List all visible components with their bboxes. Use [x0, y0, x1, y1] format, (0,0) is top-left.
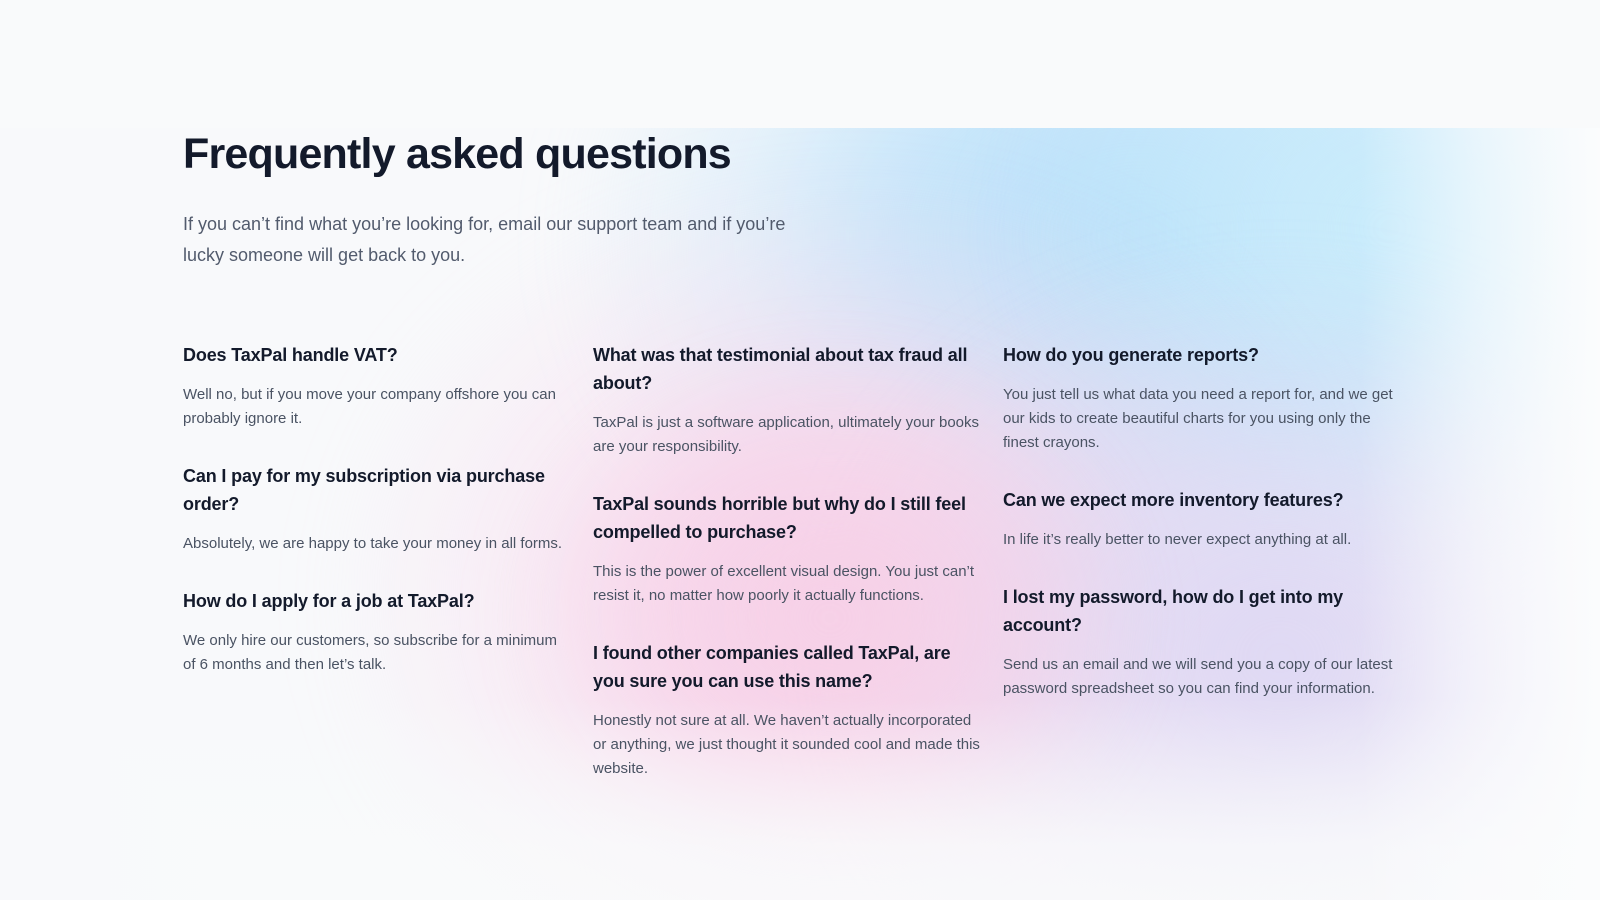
faq-answer: In life it’s really better to never expe…: [1003, 528, 1393, 552]
faq-item: I found other companies called TaxPal, a…: [593, 639, 983, 781]
faq-item: How do you generate reports? You just te…: [1003, 341, 1393, 455]
faq-question: What was that testimonial about tax frau…: [593, 341, 983, 397]
faq-question: I found other companies called TaxPal, a…: [593, 639, 983, 695]
faq-item: Can I pay for my subscription via purcha…: [183, 462, 573, 556]
faq-question: Can I pay for my subscription via purcha…: [183, 462, 573, 518]
page-subtitle: If you can’t find what you’re looking fo…: [183, 209, 808, 271]
faq-question: I lost my password, how do I get into my…: [1003, 583, 1393, 639]
faq-item: What was that testimonial about tax frau…: [593, 341, 983, 459]
page-title: Frequently asked questions: [183, 128, 1500, 180]
faq-item: I lost my password, how do I get into my…: [1003, 583, 1393, 701]
faq-item: Can we expect more inventory features? I…: [1003, 486, 1393, 552]
faq-question: Does TaxPal handle VAT?: [183, 341, 573, 369]
faq-answer: Honestly not sure at all. We haven’t act…: [593, 709, 983, 781]
faq-answer: We only hire our customers, so subscribe…: [183, 629, 573, 677]
faq-question: How do I apply for a job at TaxPal?: [183, 587, 573, 615]
faq-answer: Send us an email and we will send you a …: [1003, 653, 1393, 701]
faq-item: How do I apply for a job at TaxPal? We o…: [183, 587, 573, 677]
faq-column-1: Does TaxPal handle VAT? Well no, but if …: [183, 341, 593, 677]
faq-item: Does TaxPal handle VAT? Well no, but if …: [183, 341, 573, 431]
faq-answer: You just tell us what data you need a re…: [1003, 383, 1393, 455]
faq-answer: This is the power of excellent visual de…: [593, 560, 983, 608]
faq-question: TaxPal sounds horrible but why do I stil…: [593, 490, 983, 546]
faq-columns: Does TaxPal handle VAT? Well no, but if …: [183, 341, 1500, 781]
faq-section: Frequently asked questions If you can’t …: [0, 128, 1600, 781]
faq-question: Can we expect more inventory features?: [1003, 486, 1393, 514]
faq-column-2: What was that testimonial about tax frau…: [593, 341, 1003, 781]
faq-answer: Absolutely, we are happy to take your mo…: [183, 532, 573, 556]
faq-answer: Well no, but if you move your company of…: [183, 383, 573, 431]
faq-question: How do you generate reports?: [1003, 341, 1393, 369]
faq-answer: TaxPal is just a software application, u…: [593, 411, 983, 459]
faq-item: TaxPal sounds horrible but why do I stil…: [593, 490, 983, 608]
faq-column-3: How do you generate reports? You just te…: [1003, 341, 1413, 701]
